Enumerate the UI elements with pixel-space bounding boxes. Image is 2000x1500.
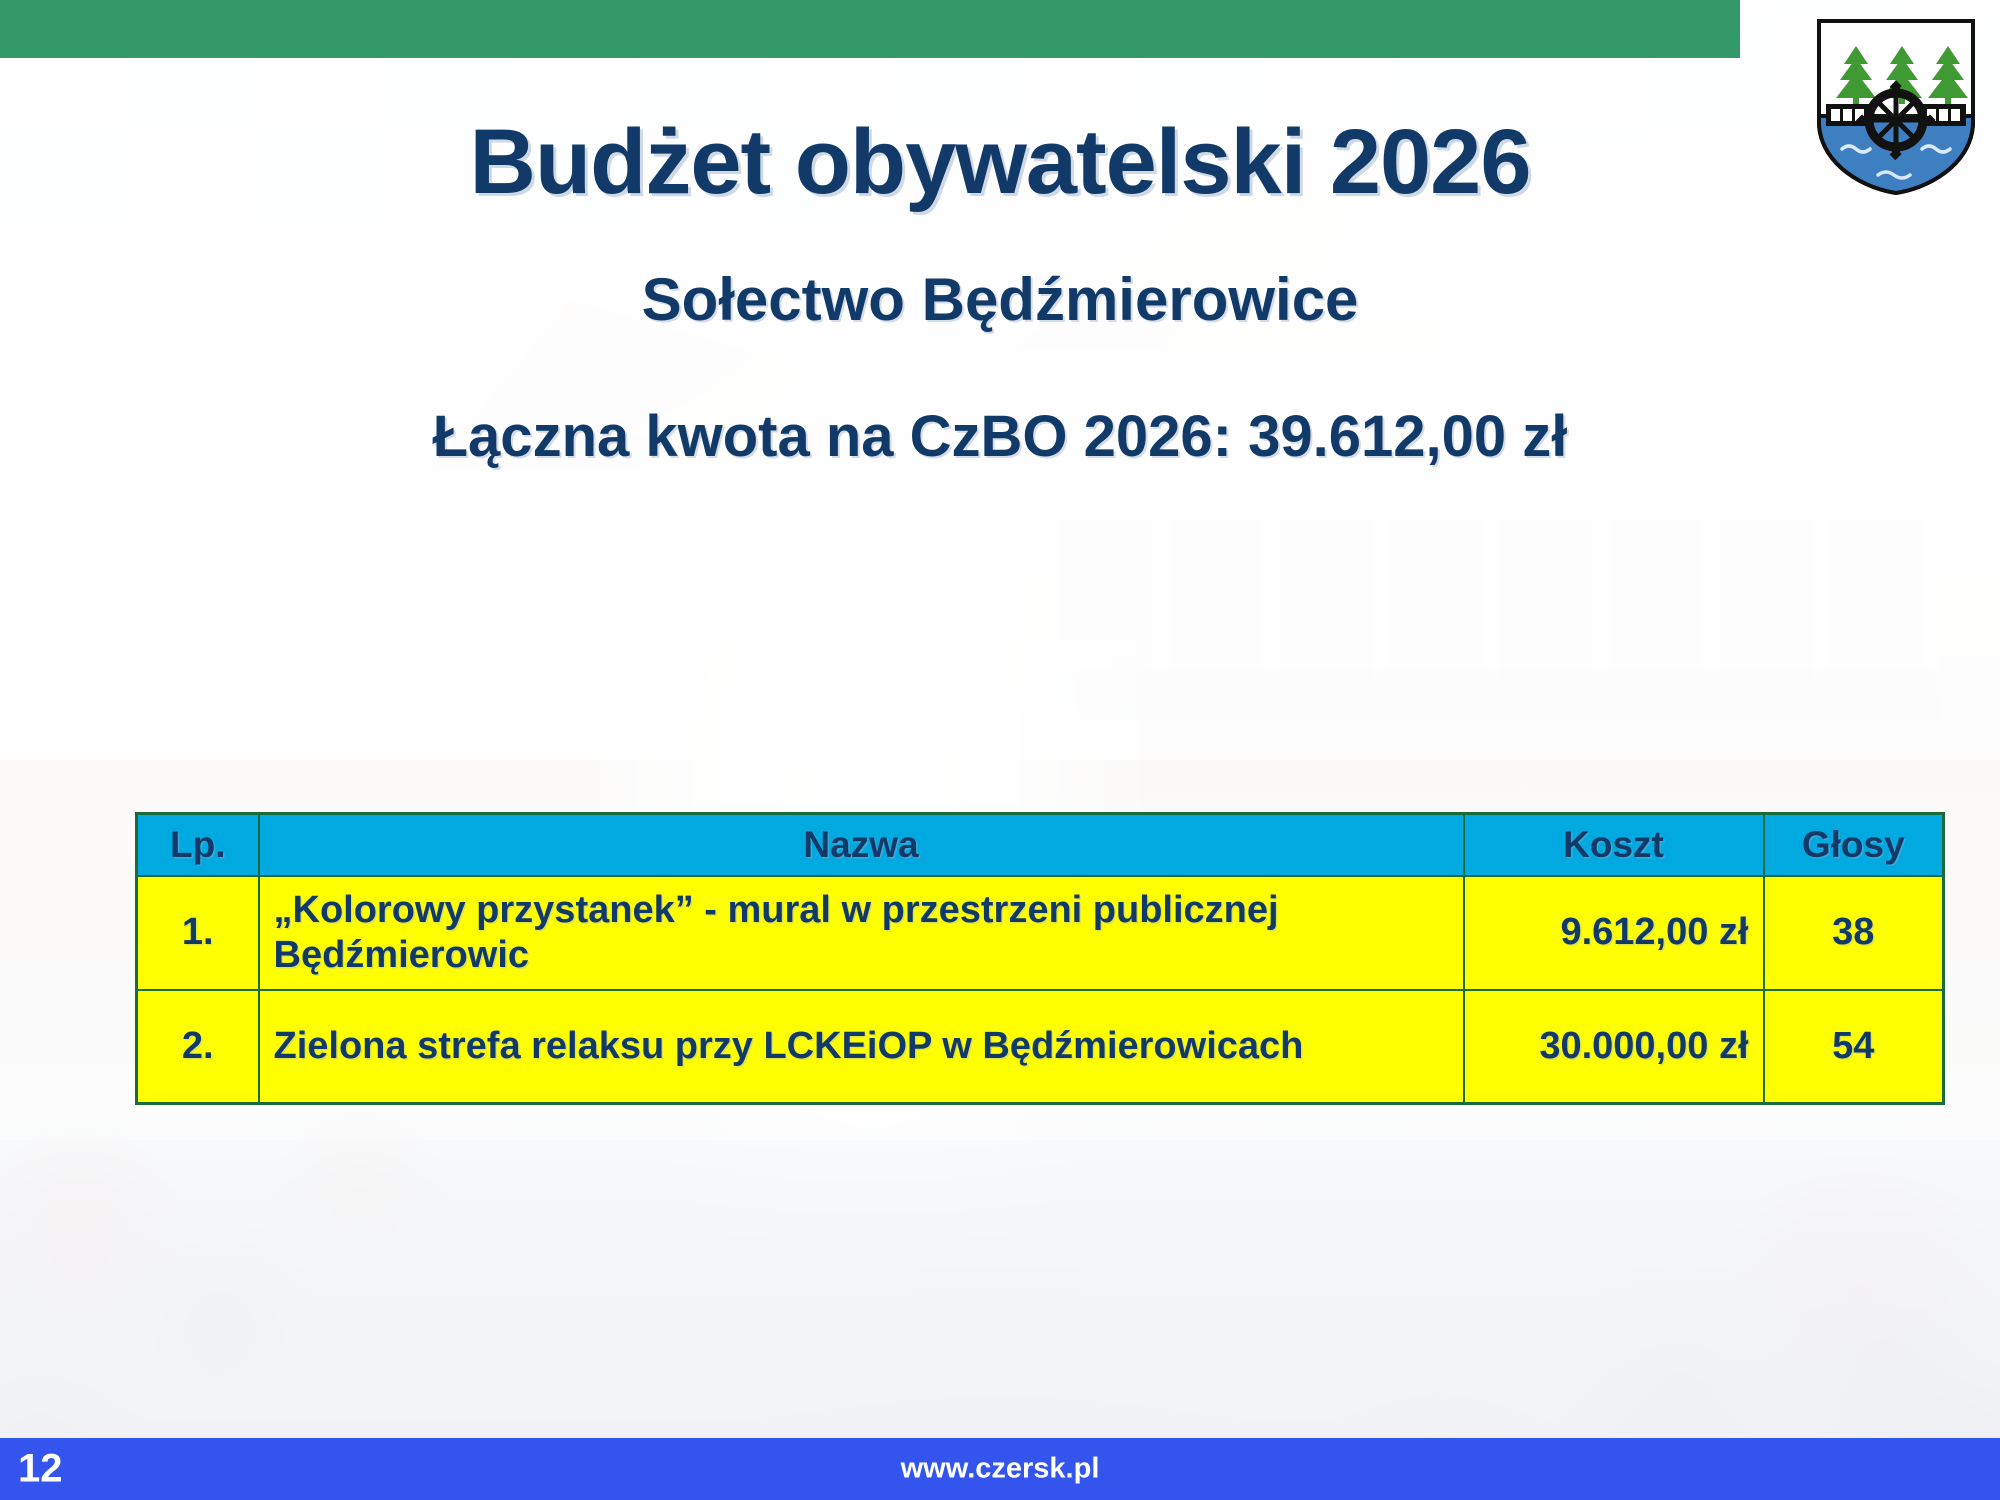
projects-table-wrapper: Lp. Nazwa Koszt Głosy 1. „Kolorowy przys…: [135, 812, 1945, 1105]
cell-votes: 38: [1764, 876, 1944, 990]
cell-lp: 2.: [137, 990, 259, 1104]
headings: Budżet obywatelski 2026 Sołectwo Będźmie…: [0, 0, 2000, 466]
column-header-cost: Koszt: [1464, 814, 1764, 876]
table-header: Lp. Nazwa Koszt Głosy: [137, 814, 1944, 876]
cell-cost: 9.612,00 zł: [1464, 876, 1764, 990]
projects-table: Lp. Nazwa Koszt Głosy 1. „Kolorowy przys…: [135, 812, 1945, 1105]
coat-of-arms-icon: [1816, 18, 1976, 196]
footer-url: www.czersk.pl: [0, 1453, 2000, 1486]
table-header-row: Lp. Nazwa Koszt Głosy: [137, 814, 1944, 876]
column-header-lp: Lp.: [137, 814, 259, 876]
slide: Budżet obywatelski 2026 Sołectwo Będźmie…: [0, 0, 2000, 1500]
cell-lp: 1.: [137, 876, 259, 990]
cell-cost: 30.000,00 zł: [1464, 990, 1764, 1104]
cell-name: Zielona strefa relaksu przy LCKEiOP w Bę…: [259, 990, 1464, 1104]
page-subtitle: Sołectwo Będźmierowice: [0, 208, 2000, 330]
cell-name: „Kolorowy przystanek” - mural w przestrz…: [259, 876, 1464, 990]
column-header-votes: Głosy: [1764, 814, 1944, 876]
cell-votes: 54: [1764, 990, 1944, 1104]
footer-bar: 12 www.czersk.pl: [0, 1438, 2000, 1500]
column-header-name: Nazwa: [259, 814, 1464, 876]
table-row: 1. „Kolorowy przystanek” - mural w przes…: [137, 876, 1944, 990]
page-title: Budżet obywatelski 2026: [0, 0, 2000, 208]
total-amount-line: Łączna kwota na CzBO 2026: 39.612,00 zł: [0, 330, 2000, 466]
table-body: 1. „Kolorowy przystanek” - mural w przes…: [137, 876, 1944, 1104]
table-row: 2. Zielona strefa relaksu przy LCKEiOP w…: [137, 990, 1944, 1104]
